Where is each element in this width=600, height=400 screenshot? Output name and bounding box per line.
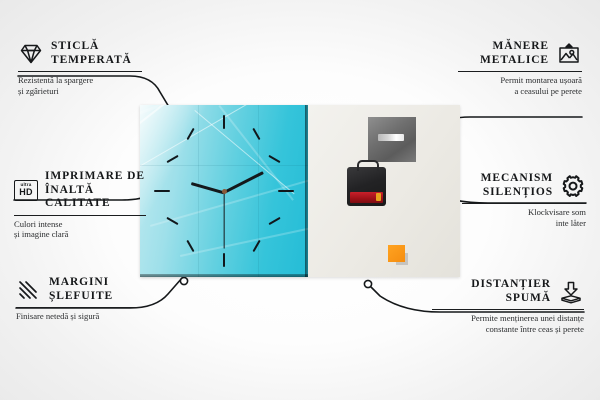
feature-title-tempered-glass-l2: TEMPERATĂ [51, 54, 132, 68]
diamond-icon [18, 42, 44, 66]
feature-subtitle-tempered-glass-l1: Rezistentă la spargere [18, 75, 142, 86]
clock-tick-7 [186, 240, 194, 252]
feature-polished-edges[interactable]: MARGINI ȘLEFUITE Finisare netedă și sigu… [16, 276, 142, 322]
feature-subtitle-polished-edges-l1: Finisare netedă și sigură [16, 311, 142, 322]
feature-title-polished-edges-l1: MARGINI [49, 276, 113, 290]
feature-subtitle-silent-mechanism-l2: inte låter [462, 218, 586, 229]
feature-foam-spacer[interactable]: DISTANȚIER SPUMĂ Permite menținerea unei… [432, 278, 584, 334]
diagonal-lines-icon [16, 278, 42, 302]
feature-header-tempered-glass: STICLĂ TEMPERATĂ [18, 40, 142, 67]
foam-spacer [388, 245, 405, 262]
feature-title-foam-spacer-l2: SPUMĂ [432, 292, 551, 306]
feature-subtitle-metal-handles-l1: Permit montarea ușoară [458, 75, 582, 86]
feature-title-silent-mechanism-l1: MECANISM [481, 172, 553, 186]
clock-back-panel [308, 105, 460, 277]
feature-header-foam-spacer: DISTANȚIER SPUMĂ [432, 278, 584, 305]
feature-rule-silent-mechanism [462, 203, 586, 204]
feature-title-hd-print-l2: ÎNALTĂ CALITATE [45, 184, 146, 211]
feature-subtitle-hd-print-l1: Culori intense [14, 219, 146, 230]
feature-subtitle-metal-handles-l2: a ceasului pe perete [458, 86, 582, 97]
feature-header-metal-handles: MĂNERE METALICE [458, 40, 582, 67]
clock-edge-bottom [140, 274, 308, 277]
feature-title-silent-mechanism-l2: SILENȚIOS [481, 186, 553, 200]
clock-tick-12 [223, 115, 225, 129]
feature-tempered-glass[interactable]: STICLĂ TEMPERATĂ Rezistentă la spargere … [18, 40, 142, 96]
ultra-hd-icon: ultra HD [14, 180, 38, 201]
feature-subtitle-hd-print-l2: și imagine clară [14, 229, 146, 240]
clock-tick-4 [268, 217, 280, 225]
metal-hanger-plate [368, 117, 416, 162]
product-photo [140, 105, 460, 277]
feature-title-metal-handles-l1: MĂNERE [480, 40, 549, 54]
arrow-down-layers-icon [558, 280, 584, 304]
movement-hook [357, 160, 379, 171]
feature-silent-mechanism[interactable]: MECANISM SILENȚIOS Klockvisare som inte … [462, 172, 586, 228]
infographic-canvas: STICLĂ TEMPERATĂ Rezistentă la spargere … [0, 0, 600, 400]
feature-title-metal-handles-l2: METALICE [480, 54, 549, 68]
feature-header-polished-edges: MARGINI ȘLEFUITE [16, 276, 142, 303]
clock-hub [222, 189, 227, 194]
clock-hand-second [223, 192, 224, 249]
gear-icon [560, 174, 586, 198]
ultra-hd-badge-main: HD [19, 188, 33, 197]
feature-rule-tempered-glass [18, 71, 142, 72]
feature-title-foam-spacer-l1: DISTANȚIER [432, 278, 551, 292]
feature-title-polished-edges-l2: ȘLEFUITE [49, 290, 113, 304]
feature-hd-print[interactable]: ultra HD IMPRIMARE DE ÎNALTĂ CALITATE Cu… [14, 170, 146, 240]
clock-tick-1 [252, 128, 260, 140]
quartz-movement [347, 167, 386, 206]
picture-hanger-icon [556, 42, 582, 66]
feature-subtitle-tempered-glass-l2: și zgârieturi [18, 86, 142, 97]
clock-face [140, 105, 308, 277]
clock-tick-6 [223, 253, 225, 267]
feature-subtitle-silent-mechanism-l1: Klockvisare som [462, 207, 586, 218]
clock-hand-hour [191, 182, 225, 195]
feature-rule-hd-print [14, 215, 146, 216]
clock-tick-9 [154, 190, 170, 192]
feature-title-tempered-glass-l1: STICLĂ [51, 40, 132, 54]
clock-tick-3 [278, 190, 294, 192]
feature-rule-polished-edges [16, 307, 142, 308]
battery-terminal [376, 193, 381, 201]
feature-rule-metal-handles [458, 71, 582, 72]
feature-subtitle-foam-spacer-l2: constante între ceas și perete [432, 324, 584, 335]
feature-rule-foam-spacer [432, 309, 584, 310]
clock-tick-10 [166, 155, 178, 163]
hotspot-dot-foam-spacer [364, 280, 371, 287]
hanger-slot [378, 134, 404, 141]
feature-metal-handles[interactable]: MĂNERE METALICE Permit montarea ușoară a… [458, 40, 582, 96]
hotspot-dot-polished-edges [180, 277, 187, 284]
clock-tick-5 [252, 240, 260, 252]
feature-header-hd-print: ultra HD IMPRIMARE DE ÎNALTĂ CALITATE [14, 170, 146, 211]
clock-tick-2 [268, 155, 280, 163]
battery [350, 192, 383, 203]
feature-header-silent-mechanism: MECANISM SILENȚIOS [462, 172, 586, 199]
feature-title-hd-print-l1: IMPRIMARE DE [45, 170, 146, 184]
feature-subtitle-foam-spacer-l1: Permite menținerea unei distanțe [432, 313, 584, 324]
